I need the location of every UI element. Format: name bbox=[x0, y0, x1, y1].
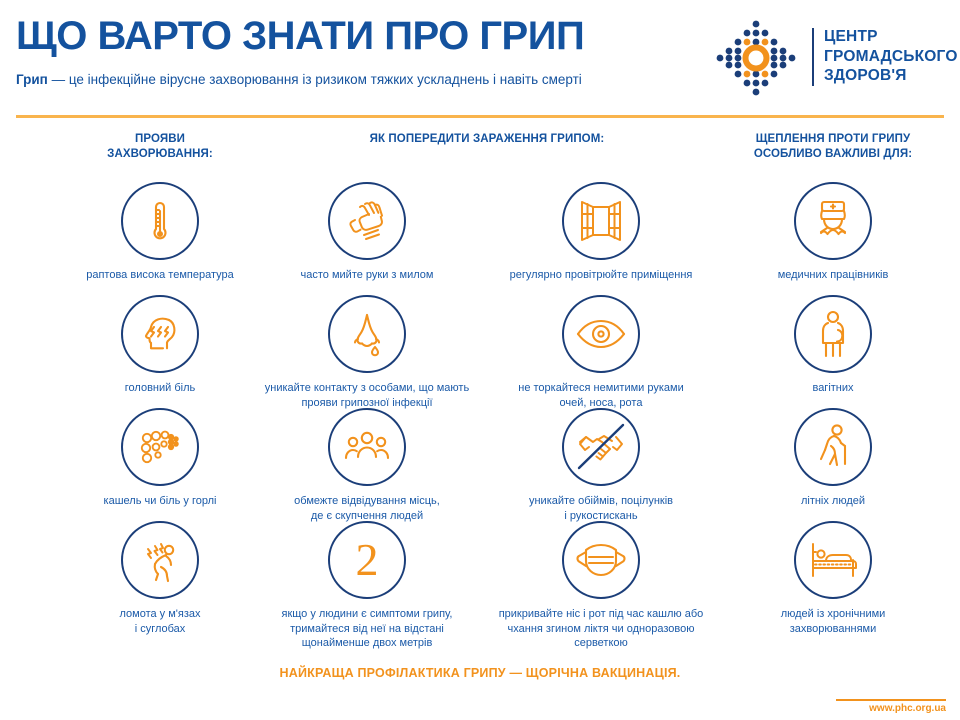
list-item-label: людей із хронічними захворюваннями bbox=[718, 607, 948, 636]
list-item-label-line-3: щонайменше двох метрів bbox=[252, 636, 482, 651]
list-item-label: вагітних bbox=[718, 381, 948, 396]
two-meters-numeral: 2 bbox=[356, 537, 379, 583]
list-item: прикривайте ніс і рот під час кашлю або … bbox=[477, 521, 725, 651]
logo-text-line-3: ЗДОРОВ'Я bbox=[824, 66, 958, 86]
open-window-icon bbox=[562, 182, 640, 260]
list-item-label: медичних працівників bbox=[718, 268, 948, 283]
list-item-label: уникайте контакту з особами, що мають пр… bbox=[252, 381, 482, 410]
list-item: обмежте відвідування місць, де є скупчен… bbox=[252, 408, 482, 523]
list-item: людей із хронічними захворюваннями bbox=[718, 521, 948, 636]
list-item: 2 якщо у людини є симптоми грипу, тримай… bbox=[252, 521, 482, 651]
elderly-person-icon bbox=[794, 408, 872, 486]
column-heading-prevention: ЯК ПОПЕРЕДИТИ ЗАРАЖЕННЯ ГРИПОМ: bbox=[262, 132, 712, 147]
vaccination-heading-line-2: ОСОБЛИВО ВАЖЛИВІ ДЛЯ: bbox=[718, 147, 948, 162]
list-item-label: головний біль bbox=[45, 381, 275, 396]
footer-divider bbox=[836, 699, 946, 701]
logo-text: ЦЕНТР ГРОМАДСЬКОГО ЗДОРОВ'Я bbox=[824, 27, 958, 86]
list-item-label-line-2: і суглобах bbox=[45, 622, 275, 637]
list-item-label: часто мийте руки з милом bbox=[252, 268, 482, 283]
list-item-label-line-1: уникайте контакту з особами, що мають bbox=[252, 381, 482, 396]
symptoms-heading-line-1: ПРОЯВИ bbox=[28, 132, 292, 147]
footer-website-link[interactable]: www.phc.org.ua bbox=[836, 703, 946, 714]
logo-text-line-2: ГРОМАДСЬКОГО bbox=[824, 47, 958, 67]
list-item-label: уникайте обіймів, поцілунків і рукостиск… bbox=[477, 494, 725, 523]
runny-nose-icon bbox=[328, 295, 406, 373]
logo: ЦЕНТР ГРОМАДСЬКОГО ЗДОРОВ'Я bbox=[706, 16, 946, 100]
logo-dot-diamond-icon bbox=[706, 18, 806, 98]
subtitle-bold-term: Грип bbox=[16, 72, 48, 87]
list-item: головний біль bbox=[45, 295, 275, 396]
page-subtitle: Грип — це інфекційне вірусне захворюванн… bbox=[16, 72, 582, 89]
list-item-label: кашель чи біль у горлі bbox=[45, 494, 275, 509]
list-item-label-line-1: обмежте відвідування місць, bbox=[252, 494, 482, 509]
list-item: вагітних bbox=[718, 295, 948, 396]
list-item-label: літніх людей bbox=[718, 494, 948, 509]
vaccination-heading-line-1: ЩЕПЛЕННЯ ПРОТИ ГРИПУ bbox=[718, 132, 948, 147]
crowd-icon bbox=[328, 408, 406, 486]
list-item-label: регулярно провітрюйте приміщення bbox=[477, 268, 725, 283]
head-pain-icon bbox=[121, 295, 199, 373]
list-item: літніх людей bbox=[718, 408, 948, 509]
logo-divider bbox=[812, 28, 814, 86]
list-item-label: ломота у м'язах і суглобах bbox=[45, 607, 275, 636]
list-item-label-line-2: захворюваннями bbox=[718, 622, 948, 637]
list-item-label: якщо у людини є симптоми грипу, тримайте… bbox=[252, 607, 482, 651]
list-item-label: не торкайтеся немитими руками очей, носа… bbox=[477, 381, 725, 410]
list-item: уникайте контакту з особами, що мають пр… bbox=[252, 295, 482, 410]
list-item-label-line-1: не торкайтеся немитими руками bbox=[477, 381, 725, 396]
list-item-label-line-1: ломота у м'язах bbox=[45, 607, 275, 622]
column-heading-vaccination: ЩЕПЛЕННЯ ПРОТИ ГРИПУ ОСОБЛИВО ВАЖЛИВІ ДЛ… bbox=[718, 132, 948, 162]
body-ache-icon bbox=[121, 521, 199, 599]
list-item-label: прикривайте ніс і рот під час кашлю або … bbox=[477, 607, 725, 651]
page-title: ЩО ВАРТО ЗНАТИ ПРО ГРИП bbox=[16, 16, 584, 56]
person-in-bed-icon bbox=[794, 521, 872, 599]
list-item-label-line-1: прикривайте ніс і рот під час кашлю або bbox=[477, 607, 725, 622]
eye-icon bbox=[562, 295, 640, 373]
thermometer-icon bbox=[121, 182, 199, 260]
header: ЩО ВАРТО ЗНАТИ ПРО ГРИП Грип — це інфекц… bbox=[0, 0, 960, 112]
list-item: регулярно провітрюйте приміщення bbox=[477, 182, 725, 283]
washing-hands-icon bbox=[328, 182, 406, 260]
list-item-label-line-3: серветкою bbox=[477, 636, 725, 651]
infographic-page: ЩО ВАРТО ЗНАТИ ПРО ГРИП Грип — це інфекц… bbox=[0, 0, 960, 720]
list-item-label-line-1: людей із хронічними bbox=[718, 607, 948, 622]
symptoms-heading-line-2: ЗАХВОРЮВАННЯ: bbox=[28, 147, 292, 162]
subtitle-rest: — це інфекційне вірусне захворювання із … bbox=[48, 72, 582, 87]
list-item-label-line-2: чхання згином ліктя чи одноразовою bbox=[477, 622, 725, 637]
header-divider bbox=[16, 115, 944, 118]
cough-droplets-icon bbox=[121, 408, 199, 486]
list-item: уникайте обіймів, поцілунків і рукостиск… bbox=[477, 408, 725, 523]
logo-text-line-1: ЦЕНТР bbox=[824, 27, 958, 47]
list-item-label-line-1: уникайте обіймів, поцілунків bbox=[477, 494, 725, 509]
face-mask-icon bbox=[562, 521, 640, 599]
list-item-label-line-1: якщо у людини є симптоми грипу, bbox=[252, 607, 482, 622]
list-item: часто мийте руки з милом bbox=[252, 182, 482, 283]
list-item-label: раптова висока температура bbox=[45, 268, 275, 283]
list-item-label-line-2: тримайтеся від неї на відстані bbox=[252, 622, 482, 637]
pregnant-woman-icon bbox=[794, 295, 872, 373]
two-meters-icon: 2 bbox=[328, 521, 406, 599]
column-heading-symptoms: ПРОЯВИ ЗАХВОРЮВАННЯ: bbox=[28, 132, 292, 162]
no-handshake-icon bbox=[562, 408, 640, 486]
list-item: медичних працівників bbox=[718, 182, 948, 283]
list-item: кашель чи біль у горлі bbox=[45, 408, 275, 509]
medical-worker-icon bbox=[794, 182, 872, 260]
list-item: не торкайтеся немитими руками очей, носа… bbox=[477, 295, 725, 410]
footer-note: НАЙКРАЩА ПРОФІЛАКТИКА ГРИПУ — ЩОРІЧНА ВА… bbox=[0, 666, 960, 680]
list-item-label: обмежте відвідування місць, де є скупчен… bbox=[252, 494, 482, 523]
list-item: ломота у м'язах і суглобах bbox=[45, 521, 275, 636]
list-item: раптова висока температура bbox=[45, 182, 275, 283]
